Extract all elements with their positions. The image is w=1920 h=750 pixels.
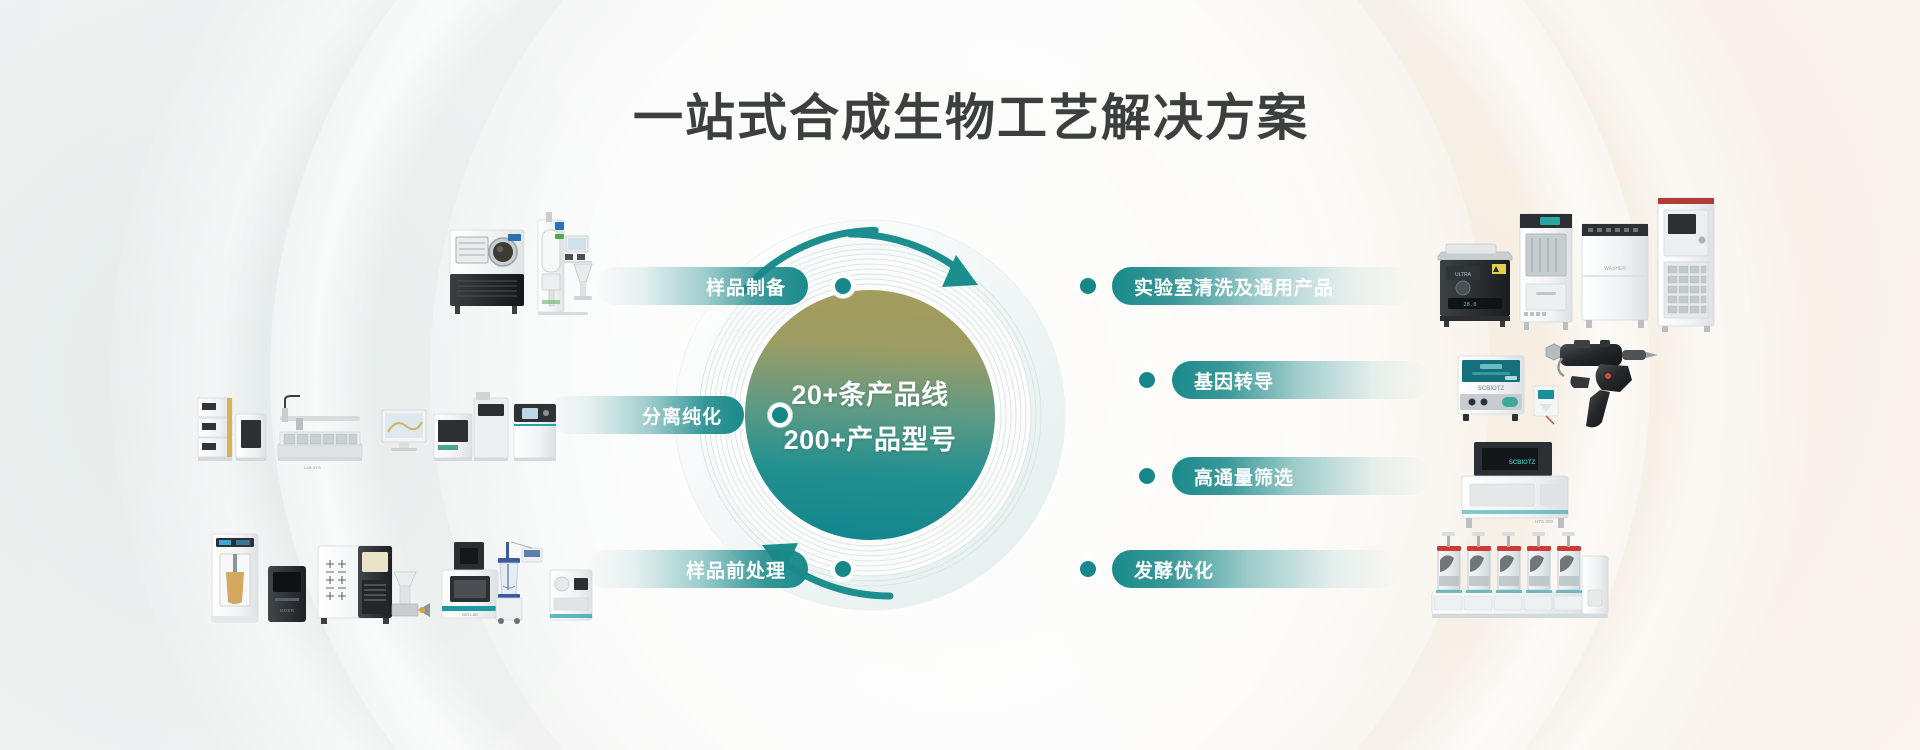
category-label: 样品前处理 bbox=[686, 556, 786, 583]
node-fermentation-optimization[interactable] bbox=[1076, 557, 1100, 581]
equipment-homogenizer-grinder-and-reactor: MIXER BIO LAB bbox=[206, 528, 596, 640]
category-label: 实验室清洗及通用产品 bbox=[1134, 273, 1334, 300]
svg-text:BIO LAB: BIO LAB bbox=[462, 612, 478, 617]
category-sample-pretreatment[interactable]: 样品前处理 bbox=[586, 550, 808, 588]
node-gene-transduction[interactable] bbox=[1135, 368, 1159, 392]
node-high-throughput-screening[interactable] bbox=[1135, 464, 1159, 488]
svg-text:28.0: 28.0 bbox=[1463, 302, 1476, 308]
page-title: 一站式合成生物工艺解决方案 bbox=[0, 78, 1920, 150]
node-sample-pretreatment[interactable] bbox=[831, 557, 855, 581]
category-gene-transduction[interactable]: 基因转导 bbox=[1172, 361, 1430, 399]
svg-text:SCBIOTZ: SCBIOTZ bbox=[1509, 460, 1536, 466]
svg-text:LAB SYS: LAB SYS bbox=[304, 465, 321, 470]
svg-text:SCBIOTZ: SCBIOTZ bbox=[1478, 386, 1505, 392]
equipment-ultrasonic-cleaner-and-glassware-washers: ULTRA 28.0 WASHE bbox=[1436, 192, 1726, 332]
node-sample-preparation[interactable] bbox=[831, 274, 855, 298]
svg-text:MIXER: MIXER bbox=[280, 608, 295, 613]
equipment-high-throughput-screening-instrument: SCBIOTZ HTS-300 bbox=[1452, 440, 1582, 532]
equipment-chromatography-purification-systems: LAB SYS bbox=[196, 382, 556, 482]
node-separation-purification[interactable] bbox=[768, 403, 792, 427]
infographic-canvas: 一站式合成生物工艺解决方案 bbox=[0, 0, 1920, 750]
equipment-electroporator-and-gene-gun: SCBIOTZ bbox=[1450, 336, 1670, 440]
equipment-parallel-bioreactor-system bbox=[1428, 530, 1618, 622]
category-label: 基因转导 bbox=[1194, 367, 1274, 394]
svg-text:ULTRA: ULTRA bbox=[1455, 272, 1472, 278]
node-lab-cleaning[interactable] bbox=[1076, 274, 1100, 298]
category-high-throughput-screening[interactable]: 高通量筛选 bbox=[1172, 457, 1430, 495]
equipment-freeze-dryer-and-spray-dryer bbox=[446, 212, 596, 322]
category-fermentation-optimization[interactable]: 发酵优化 bbox=[1112, 550, 1398, 588]
category-lab-cleaning-general-products[interactable]: 实验室清洗及通用产品 bbox=[1112, 267, 1412, 305]
category-label: 样品制备 bbox=[706, 273, 786, 300]
category-sample-preparation[interactable]: 样品制备 bbox=[596, 267, 808, 305]
category-separation-purification[interactable]: 分离纯化 bbox=[548, 396, 744, 434]
svg-text:HTS-300: HTS-300 bbox=[1535, 519, 1554, 524]
category-label: 分离纯化 bbox=[642, 402, 722, 429]
svg-text:WASHER: WASHER bbox=[1604, 266, 1626, 272]
category-label: 高通量筛选 bbox=[1194, 463, 1294, 490]
category-label: 发酵优化 bbox=[1134, 556, 1214, 583]
